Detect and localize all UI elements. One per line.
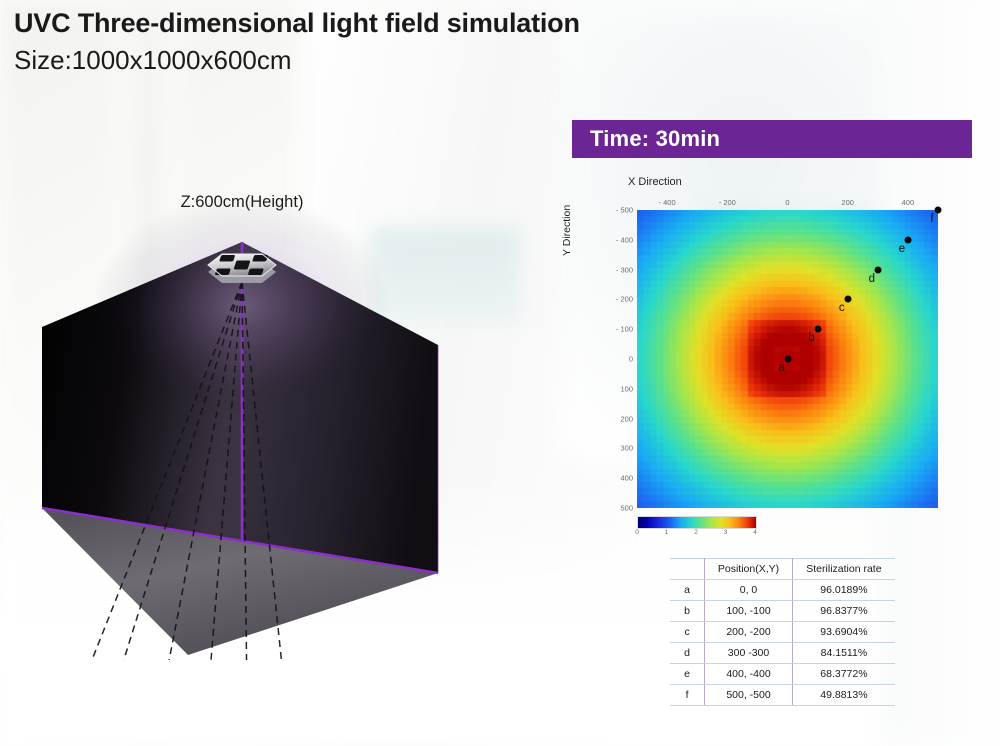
data-point-a (784, 356, 791, 363)
header-id (670, 559, 705, 580)
y-tick-label: 500 (607, 504, 633, 513)
y-tick-label: - 400 (607, 235, 633, 244)
room-3d-diagram: f e d c b a Z:600cm(Hei (20, 185, 500, 660)
page-title: UVC Three-dimensional light field simula… (14, 6, 580, 77)
data-point-f (935, 207, 942, 214)
data-point-d (874, 266, 881, 273)
cell-position: 100, -100 (705, 601, 793, 622)
y-tick-label: 0 (607, 355, 633, 364)
y-tick-label: 300 (607, 444, 633, 453)
y-tick-label: 100 (607, 384, 633, 393)
colorbar-tick-label: 2 (694, 529, 698, 536)
y-tick-label: 400 (607, 474, 633, 483)
data-point-label-c: c (839, 302, 845, 314)
chart-ylabel: Y Direction (561, 205, 573, 256)
heatmap-plot-area: - 400- 2000200400 - 500- 400- 300- 200- … (637, 210, 938, 508)
cell-rate: 84.1511% (792, 643, 895, 664)
uvc-lamp-fixture (208, 254, 276, 283)
table-row: c200, -20093.6904% (670, 622, 895, 643)
x-tick-label: 400 (902, 198, 915, 207)
data-point-label-f: f (930, 213, 933, 225)
table-row: e400, -40068.3772% (670, 664, 895, 685)
data-point-label-e: e (899, 243, 905, 255)
cell-position: 500, -500 (705, 685, 793, 706)
data-point-c (844, 296, 851, 303)
time-banner-label: Time: 30min (590, 126, 720, 152)
y-tick-label: - 200 (607, 295, 633, 304)
data-point-label-b: b (808, 332, 814, 344)
x-tick-label: - 200 (719, 198, 736, 207)
table-header-row: Position(X,Y) Sterilization rate (670, 559, 895, 580)
cell-rate: 93.6904% (792, 622, 895, 643)
y-tick-label: 200 (607, 414, 633, 423)
colorbar: 01234 (637, 516, 755, 529)
title-main: UVC Three-dimensional light field simula… (14, 6, 580, 40)
data-point-label-a: a (778, 362, 784, 374)
y-tick-label: - 100 (607, 325, 633, 334)
colorbar-canvas (637, 516, 757, 529)
cell-rate: 49.8813% (792, 685, 895, 706)
cell-rate: 96.8377% (792, 601, 895, 622)
z-axis-label: Z:600cm(Height) (181, 193, 304, 211)
room-3d-svg: f e d c b a Z:600cm(Hei (20, 185, 500, 660)
x-tick-label: 0 (785, 198, 789, 207)
cell-id: c (670, 622, 705, 643)
colorbar-tick-label: 1 (665, 529, 669, 536)
cell-id: e (670, 664, 705, 685)
cell-rate: 68.3772% (792, 664, 895, 685)
heatmap-figure: X Direction Y Direction - 400- 200020040… (570, 168, 970, 548)
x-tick-label: 200 (841, 198, 854, 207)
chart-xlabel: X Direction (628, 176, 682, 188)
table-row: f500, -50049.8813% (670, 685, 895, 706)
data-point-label-d: d (869, 273, 875, 285)
table-row: d300 -30084.1511% (670, 643, 895, 664)
sterilization-table: Position(X,Y) Sterilization rate a0, 096… (670, 558, 895, 706)
colorbar-tick-label: 4 (753, 529, 757, 536)
colorbar-tick-label: 3 (724, 529, 728, 536)
data-point-e (904, 236, 911, 243)
cell-rate: 96.0189% (792, 580, 895, 601)
y-tick-label: - 500 (607, 206, 633, 215)
header-position: Position(X,Y) (705, 559, 793, 580)
cell-position: 0, 0 (705, 580, 793, 601)
data-point-b (814, 326, 821, 333)
cell-id: b (670, 601, 705, 622)
cell-position: 300 -300 (705, 643, 793, 664)
colorbar-tick-label: 0 (635, 529, 639, 536)
x-tick-label: - 400 (659, 198, 676, 207)
y-tick-label: - 300 (607, 265, 633, 274)
cell-position: 200, -200 (705, 622, 793, 643)
header-rate: Sterilization rate (792, 559, 895, 580)
cell-id: f (670, 685, 705, 706)
time-banner: Time: 30min (572, 120, 972, 158)
title-size: Size:1000x1000x600cm (14, 43, 580, 77)
table-row: a0, 096.0189% (670, 580, 895, 601)
cell-id: a (670, 580, 705, 601)
cell-id: d (670, 643, 705, 664)
table-row: b100, -10096.8377% (670, 601, 895, 622)
cell-position: 400, -400 (705, 664, 793, 685)
